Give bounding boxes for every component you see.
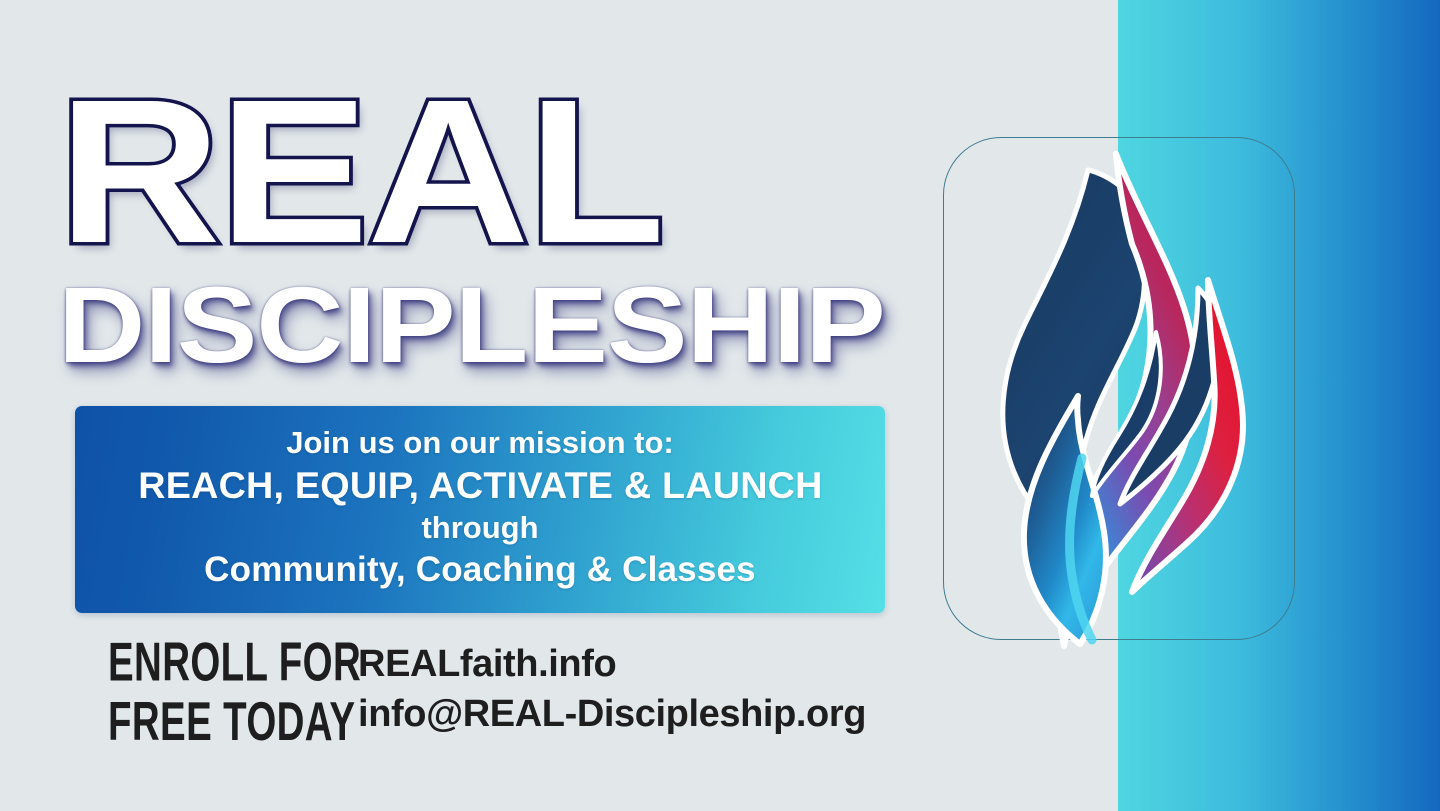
mission-line-1: Join us on our mission to:	[286, 423, 674, 463]
contact-details: REALfaith.info info@REAL-Discipleship.or…	[358, 639, 866, 739]
mission-line-2: REACH, EQUIP, ACTIVATE & LAUNCH	[138, 463, 822, 508]
wordmark-discipleship: DISCIPLESHIP	[58, 271, 1044, 379]
website-link[interactable]: REALfaith.info	[358, 639, 866, 689]
wordmark-real: REAL	[58, 76, 1026, 269]
enroll-line-1: ENROLL FOR	[108, 633, 361, 693]
enroll-line-2: FREE TODAY	[108, 693, 361, 753]
mission-banner: Join us on our mission to: REACH, EQUIP,…	[75, 406, 885, 613]
mission-line-4: Community, Coaching & Classes	[204, 548, 756, 592]
mission-line-3: through	[421, 508, 538, 548]
email-link[interactable]: info@REAL-Discipleship.org	[358, 689, 866, 739]
flame-logo-icon	[960, 140, 1290, 650]
enroll-headline: ENROLL FOR FREE TODAY	[108, 633, 361, 752]
promo-poster: REAL DISCIPLESHIP Join us on our mission…	[0, 0, 1440, 811]
brand-wordmark: REAL DISCIPLESHIP	[58, 76, 938, 379]
call-to-action: ENROLL FOR FREE TODAY REALfaith.info inf…	[108, 633, 866, 745]
